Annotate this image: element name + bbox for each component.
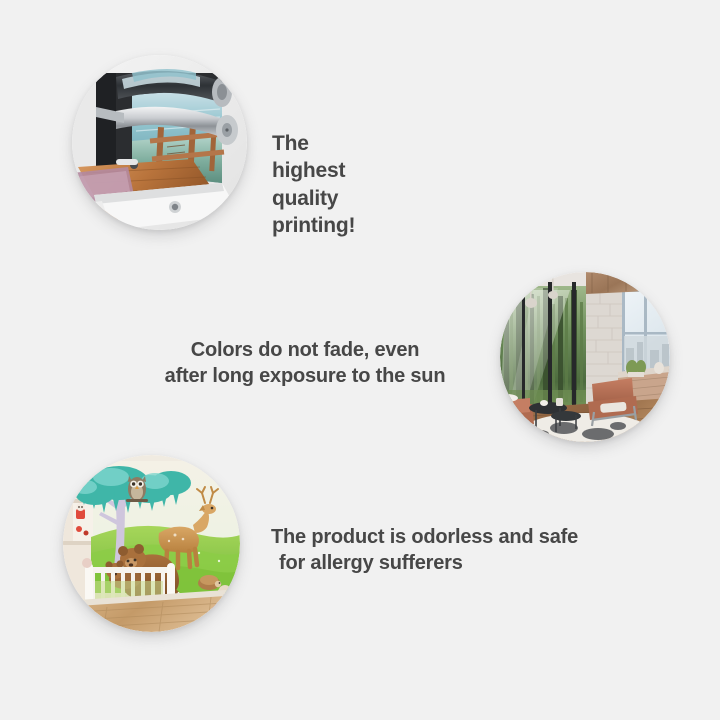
circle-image-printing-quality	[72, 55, 247, 230]
circle-image-odorless-safe	[63, 455, 240, 632]
caption-printing-quality: The highest quality printing!	[272, 130, 355, 239]
living-room-forest-mural-photo	[500, 272, 670, 442]
caption-color-fastness-line2: after long exposure to the sun	[165, 365, 446, 387]
caption-odorless-safe: The product is odorless and safefor alle…	[271, 524, 601, 576]
feature-highlights-graphic: The highest quality printing!	[0, 0, 720, 720]
caption-odorless-safe-line2: for allergy sufferers	[271, 550, 463, 576]
caption-printing-quality-line1: The highest quality printing!	[272, 132, 355, 237]
wide-format-printer-photo	[72, 55, 247, 230]
caption-odorless-safe-line1: The product is odorless and safe	[271, 526, 578, 548]
caption-color-fastness-line1: Colors do not fade, even	[191, 339, 420, 361]
circle-image-color-fastness	[500, 272, 670, 442]
nursery-animal-mural-photo	[63, 455, 240, 632]
caption-color-fastness: Colors do not fade, evenafter long expos…	[140, 337, 470, 389]
